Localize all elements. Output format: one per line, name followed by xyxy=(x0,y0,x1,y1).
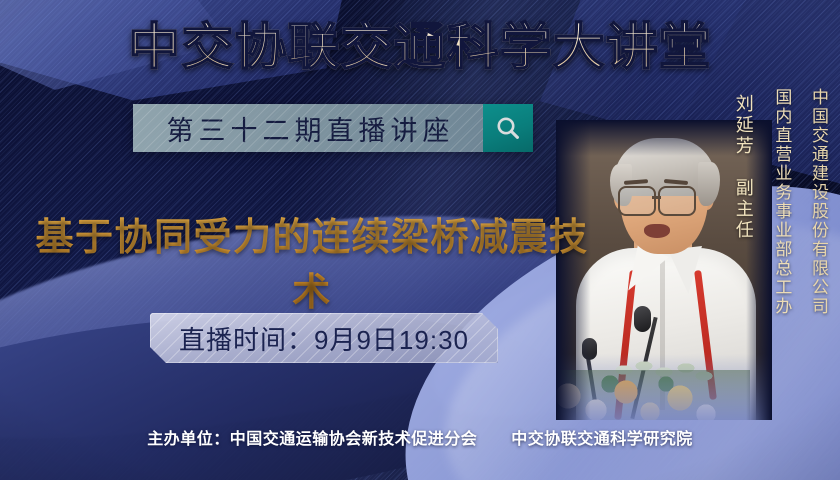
speaker-company: 中国交通建设股份有限公司 xyxy=(799,88,836,316)
speaker-credits: 刘延芳 副主任 国内直营业务事业部总工办 中国交通建设股份有限公司 xyxy=(725,88,836,316)
speaker-name: 刘延芳 xyxy=(734,94,754,157)
organizer-primary: 主办单位：中国交通运输协会新技术促进分会 xyxy=(147,431,477,448)
photo-microphone-head-2 xyxy=(582,338,597,360)
search-button[interactable] xyxy=(483,104,533,152)
episode-label: 第三十二期直播讲座 xyxy=(133,104,483,152)
page-title: 中交协联交通科学大讲堂 xyxy=(0,22,840,72)
live-lecture-poster: 中交协联交通科学大讲堂 第三十二期直播讲座 基于协同受力的连续梁桥减震技术 直播… xyxy=(0,0,840,480)
broadcast-time-label: 直播时间：9月9日19:30 xyxy=(179,320,469,357)
broadcast-time-badge: 直播时间：9月9日19:30 xyxy=(150,313,498,363)
photo-glasses-bridge xyxy=(652,196,661,199)
speaker-role-spacer xyxy=(734,157,754,178)
photo-microphone-head xyxy=(634,306,651,332)
speaker-name-title: 刘延芳 副主任 xyxy=(725,94,763,241)
photo-flower-arrangement xyxy=(556,370,750,420)
photo-glasses-lens-right xyxy=(658,186,696,216)
speaker-role: 副主任 xyxy=(734,178,754,241)
lecture-topic-headline: 基于协同受力的连续梁桥减震技术 xyxy=(22,206,602,316)
speaker-department: 国内直营业务事业部总工办 xyxy=(763,88,800,316)
organizer-footer: 主办单位：中国交通运输协会新技术促进分会 中交协联交通科学研究院 xyxy=(0,425,840,449)
photo-mouth xyxy=(644,224,670,238)
search-icon xyxy=(494,114,522,142)
photo-glasses-lens-left xyxy=(618,186,656,216)
episode-banner: 第三十二期直播讲座 xyxy=(133,104,533,152)
organizer-secondary: 中交协联交通科学研究院 xyxy=(511,431,693,448)
